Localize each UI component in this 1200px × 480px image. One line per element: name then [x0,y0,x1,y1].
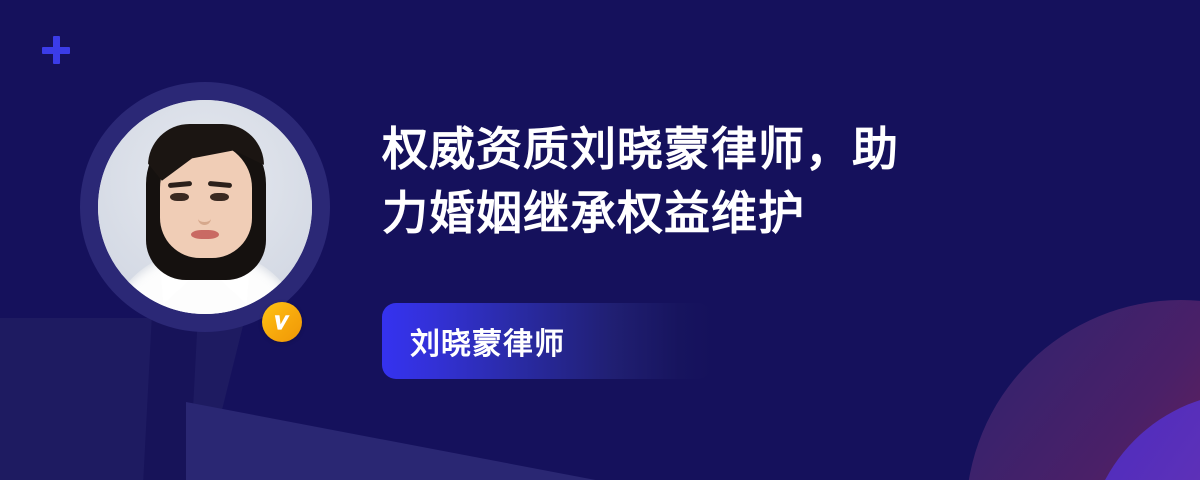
verified-badge-icon [262,302,302,342]
portrait-nose [198,204,211,225]
avatar-photo [98,100,312,314]
decor-triangle [186,402,606,480]
decor-circle-magenta [966,300,1200,480]
decor-circle-purple [1086,392,1200,480]
portrait-mouth [191,230,219,239]
avatar [80,82,330,332]
lawyer-name-button[interactable]: 刘晓蒙律师 [382,303,712,379]
portrait-eye-left [170,193,189,201]
portrait-eye-right [210,193,229,201]
plus-icon [42,36,70,64]
decor-slab-left [0,318,245,480]
promo-banner: 权威资质刘晓蒙律师，助 力婚姻继承权益维护 刘晓蒙律师 [0,0,1200,480]
page-title: 权威资质刘晓蒙律师，助 力婚姻继承权益维护 [382,118,1082,246]
headline-block: 权威资质刘晓蒙律师，助 力婚姻继承权益维护 [382,118,1082,246]
